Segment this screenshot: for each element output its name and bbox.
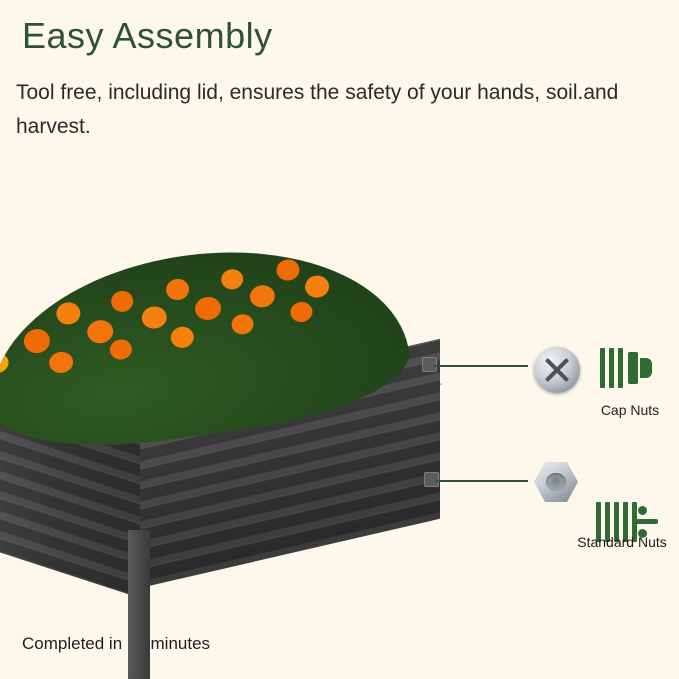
cap-nut-icon — [600, 348, 654, 388]
page-subtitle: Tool free, including lid, ensures the sa… — [16, 76, 636, 144]
screw-head-icon — [534, 347, 580, 393]
callout-label-cap-nuts: Cap Nuts — [570, 402, 679, 418]
product-infographic: Easy Assembly Tool free, including lid, … — [0, 0, 679, 679]
completion-note: Completed in 15 minutes — [22, 634, 210, 654]
hex-nut-icon — [534, 462, 578, 502]
callout-line-cap-nuts — [434, 365, 528, 367]
planter-corner-post — [128, 530, 150, 679]
page-title: Easy Assembly — [22, 14, 273, 58]
callout-line-standard-nuts — [436, 480, 528, 482]
callout-label-standard-nuts: Standard Nuts — [552, 534, 679, 550]
product-illustration — [0, 230, 460, 600]
